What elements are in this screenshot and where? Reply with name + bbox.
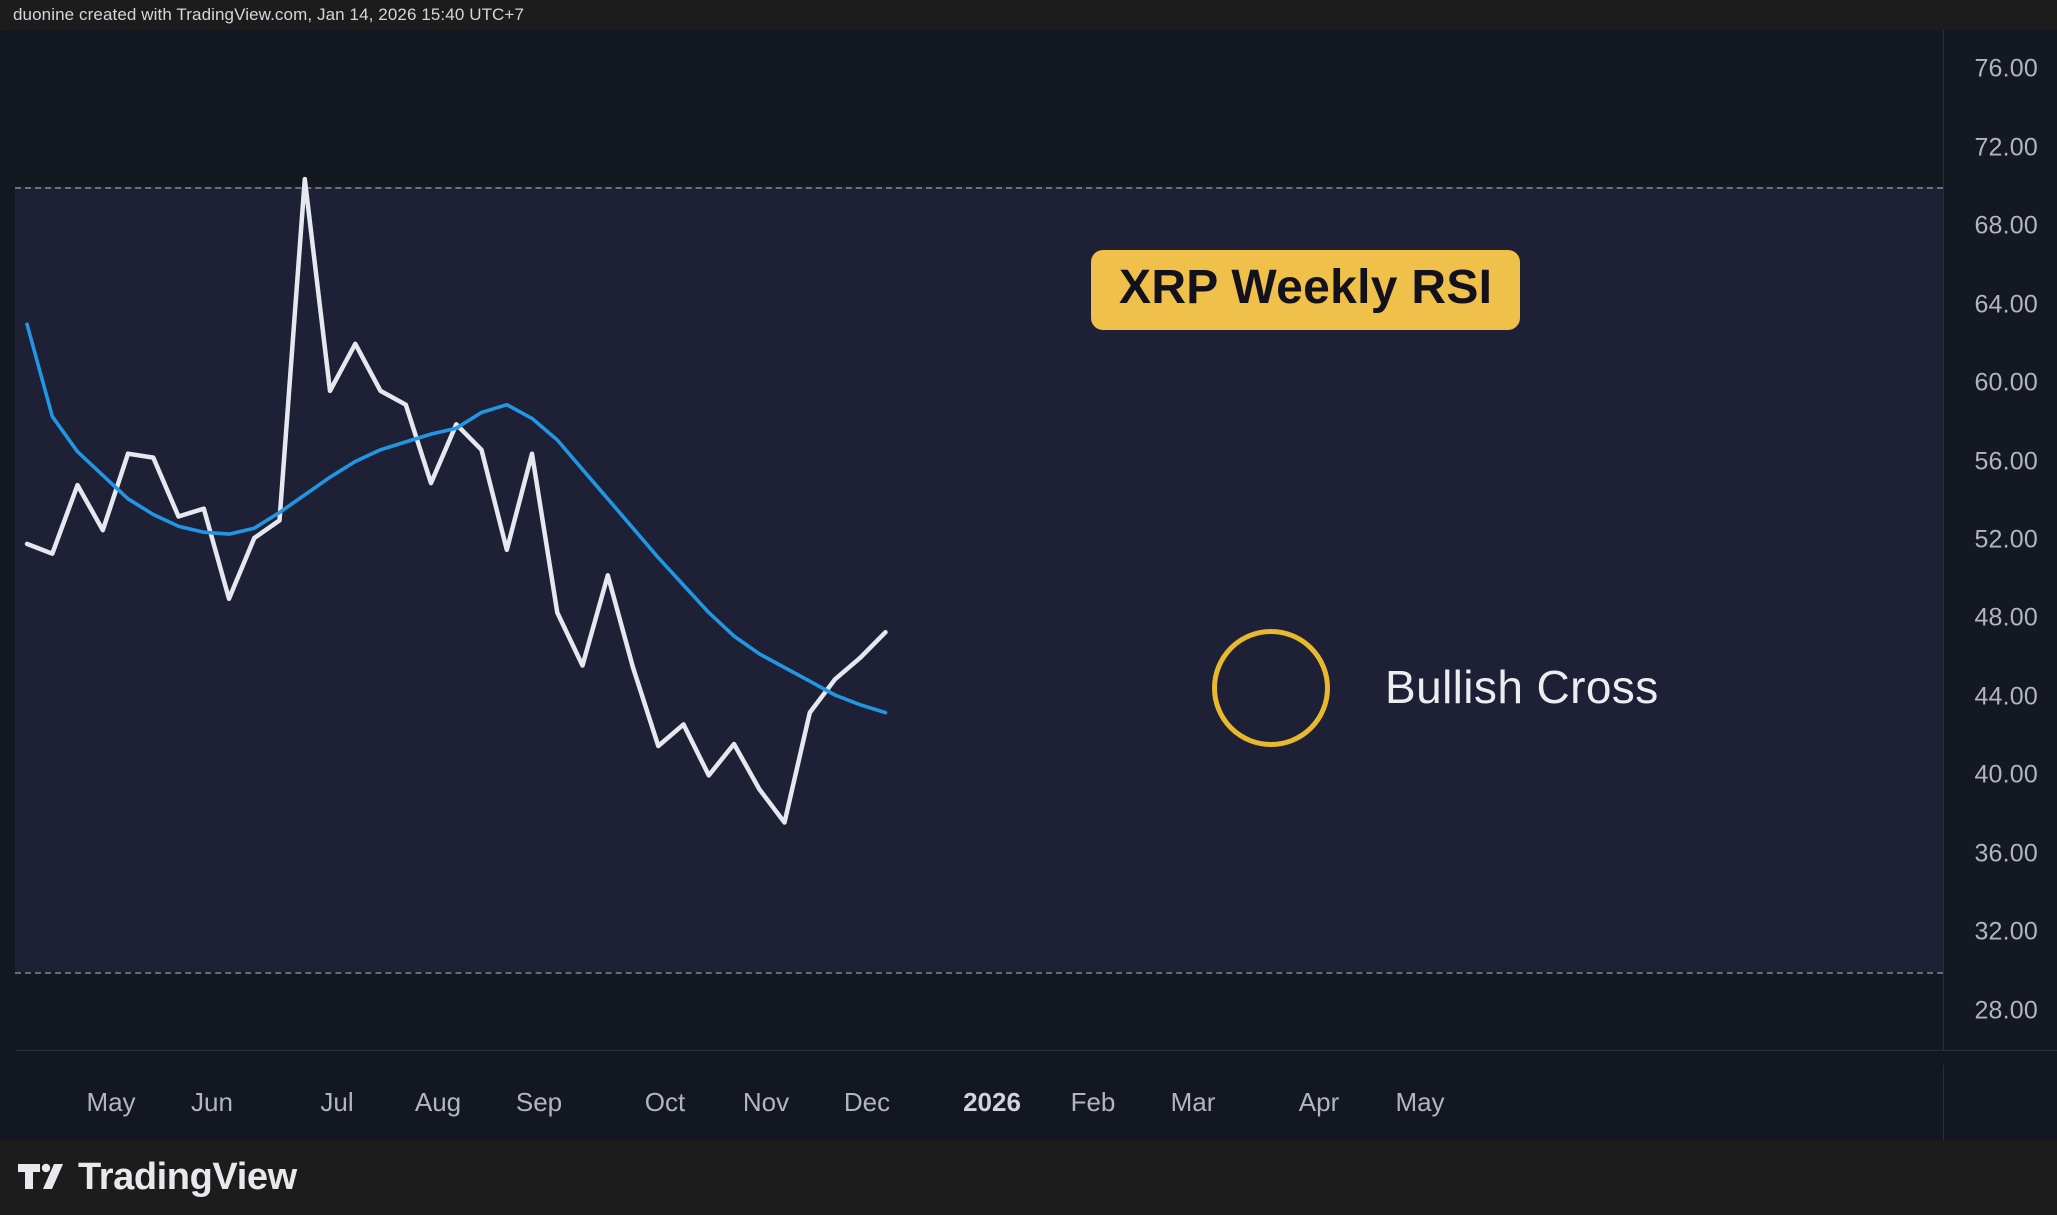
x-axis-tick: Feb bbox=[1071, 1087, 1116, 1118]
x-axis-tick: May bbox=[86, 1087, 135, 1118]
tradingview-logo-text: TradingView bbox=[78, 1156, 297, 1199]
tradingview-logo-icon bbox=[18, 1161, 64, 1195]
attribution-text: duonine created with TradingView.com, Ja… bbox=[13, 5, 524, 25]
y-axis-tick: 72.00 bbox=[1974, 133, 2038, 162]
chart-title-badge: XRP Weekly RSI bbox=[1091, 250, 1520, 330]
x-axis-tick: Sep bbox=[516, 1087, 562, 1118]
x-axis-tick: Aug bbox=[415, 1087, 461, 1118]
attribution-bar: duonine created with TradingView.com, Ja… bbox=[0, 0, 2057, 30]
x-axis-tick: May bbox=[1395, 1087, 1444, 1118]
y-axis-tick: 68.00 bbox=[1974, 212, 2038, 241]
x-axis-tick: Dec bbox=[844, 1087, 890, 1118]
bullish-cross-circle-marker bbox=[1212, 629, 1330, 747]
x-axis-tick: Nov bbox=[743, 1087, 789, 1118]
rsi-line bbox=[27, 179, 886, 822]
bullish-cross-label: Bullish Cross bbox=[1385, 660, 1659, 714]
x-axis-tick: Oct bbox=[645, 1087, 685, 1118]
y-axis-tick: 76.00 bbox=[1974, 55, 2038, 84]
time-axis[interactable]: MayJunJulAugSepOctNovDec2026FebMarAprMay bbox=[0, 1065, 2057, 1140]
x-axis-tick: Apr bbox=[1299, 1087, 1339, 1118]
y-axis-tick: 60.00 bbox=[1974, 369, 2038, 398]
x-axis-tick: Mar bbox=[1171, 1087, 1216, 1118]
x-axis-tick: 2026 bbox=[963, 1087, 1021, 1118]
tradingview-rsi-chart: duonine created with TradingView.com, Ja… bbox=[0, 0, 2057, 1215]
x-axis-tick: Jul bbox=[320, 1087, 353, 1118]
y-axis-tick: 48.00 bbox=[1974, 604, 2038, 633]
axis-divider bbox=[15, 1050, 2057, 1051]
tradingview-logo[interactable]: TradingView bbox=[18, 1156, 297, 1199]
y-axis-tick: 56.00 bbox=[1974, 447, 2038, 476]
x-axis-tick: Jun bbox=[191, 1087, 233, 1118]
footer-bar: TradingView bbox=[0, 1140, 2057, 1215]
rsi-series-svg bbox=[15, 30, 1943, 1050]
y-axis-tick: 52.00 bbox=[1974, 526, 2038, 555]
y-axis-tick: 64.00 bbox=[1974, 290, 2038, 319]
chart-title-text: XRP Weekly RSI bbox=[1119, 261, 1492, 314]
y-axis-tick: 28.00 bbox=[1974, 996, 2038, 1025]
price-axis[interactable]: 76.0072.0068.0064.0060.0056.0052.0048.00… bbox=[1943, 30, 2057, 1050]
chart-frame: 76.0072.0068.0064.0060.0056.0052.0048.00… bbox=[0, 30, 2057, 1065]
y-axis-tick: 36.00 bbox=[1974, 839, 2038, 868]
y-axis-tick: 40.00 bbox=[1974, 761, 2038, 790]
y-axis-tick: 44.00 bbox=[1974, 682, 2038, 711]
rsi-signal-line bbox=[27, 324, 886, 712]
plot-area[interactable] bbox=[15, 30, 1943, 1050]
y-axis-tick: 32.00 bbox=[1974, 918, 2038, 947]
